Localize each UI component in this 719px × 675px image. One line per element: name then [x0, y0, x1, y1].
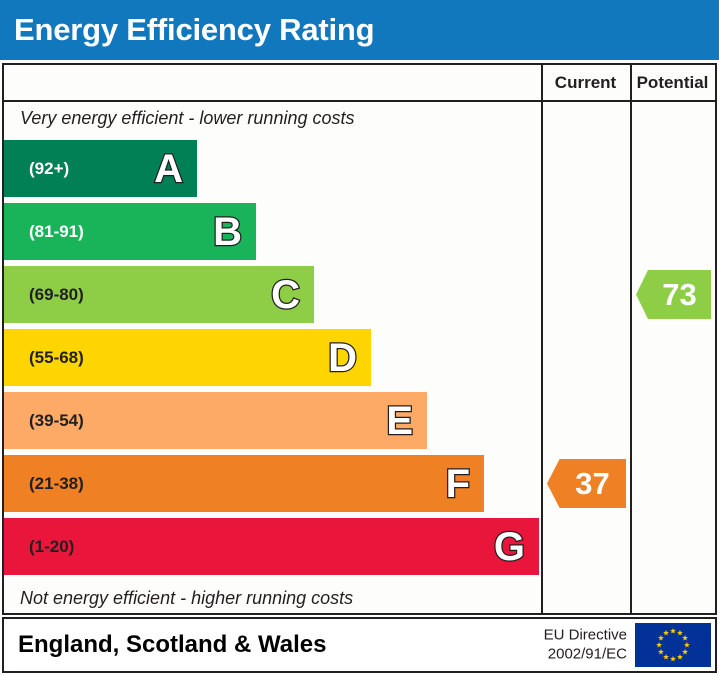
rating-table: Current Potential Very energy efficient …: [2, 63, 717, 615]
column-header-current: Current: [541, 65, 630, 100]
band-bar-f: (21-38)F: [4, 455, 484, 512]
band-row-d: (55-68)D: [4, 326, 541, 389]
band-row-c: (69-80)C: [4, 263, 541, 326]
rating-cell-current: 37: [541, 452, 630, 515]
band-range-b: (81-91): [29, 222, 84, 242]
energy-efficiency-rating-chart: Energy Efficiency Rating Current Potenti…: [0, 0, 719, 675]
band-letter-g: G: [494, 527, 525, 567]
page-title: Energy Efficiency Rating: [14, 12, 374, 48]
rating-arrow-current: 37: [547, 459, 626, 508]
column-header-potential: Potential: [630, 65, 715, 100]
column-header-row: Current Potential: [4, 65, 715, 100]
band-letter-e: E: [386, 401, 413, 441]
column-divider-potential: [630, 65, 632, 613]
band-row-b: (81-91)B: [4, 200, 541, 263]
rating-cell-potential: 73: [630, 263, 715, 326]
band-row-f: (21-38)F: [4, 452, 541, 515]
column-divider-current: [541, 65, 543, 613]
band-letter-a: A: [154, 149, 183, 189]
rating-value-current: 37: [563, 468, 609, 499]
band-range-f: (21-38): [29, 474, 84, 494]
band-letter-d: D: [328, 338, 357, 378]
band-bar-c: (69-80)C: [4, 266, 314, 323]
band-bar-g: (1-20)G: [4, 518, 539, 575]
band-range-c: (69-80): [29, 285, 84, 305]
band-bar-d: (55-68)D: [4, 329, 371, 386]
band-letter-f: F: [446, 464, 470, 504]
band-letter-b: B: [213, 212, 242, 252]
rating-value-potential: 73: [650, 279, 696, 310]
band-row-e: (39-54)E: [4, 389, 541, 452]
band-row-g: (1-20)G: [4, 515, 541, 578]
band-bar-e: (39-54)E: [4, 392, 427, 449]
band-list: (92+)A(81-91)B(69-80)C(55-68)D(39-54)E(2…: [4, 137, 541, 580]
band-letter-c: C: [271, 275, 300, 315]
band-bar-a: (92+)A: [4, 140, 197, 197]
band-row-a: (92+)A: [4, 137, 541, 200]
rating-arrow-potential: 73: [636, 270, 711, 319]
directive-line-2: 2002/91/EC: [544, 645, 627, 664]
caption-very-efficient: Very energy efficient - lower running co…: [4, 100, 541, 137]
band-range-e: (39-54): [29, 411, 84, 431]
directive-line-1: EU Directive: [544, 626, 627, 645]
band-range-a: (92+): [29, 159, 69, 179]
caption-not-efficient: Not energy efficient - higher running co…: [4, 580, 541, 617]
chart-title-bar: Energy Efficiency Rating: [0, 0, 719, 60]
band-bar-b: (81-91)B: [4, 203, 256, 260]
eu-flag-icon: [635, 623, 711, 667]
footer-region-label: England, Scotland & Wales: [18, 631, 326, 659]
footer-directive: EU Directive 2002/91/EC: [544, 626, 627, 664]
band-range-g: (1-20): [29, 537, 74, 557]
band-range-d: (55-68): [29, 348, 84, 368]
chart-footer: England, Scotland & Wales EU Directive 2…: [2, 617, 717, 673]
